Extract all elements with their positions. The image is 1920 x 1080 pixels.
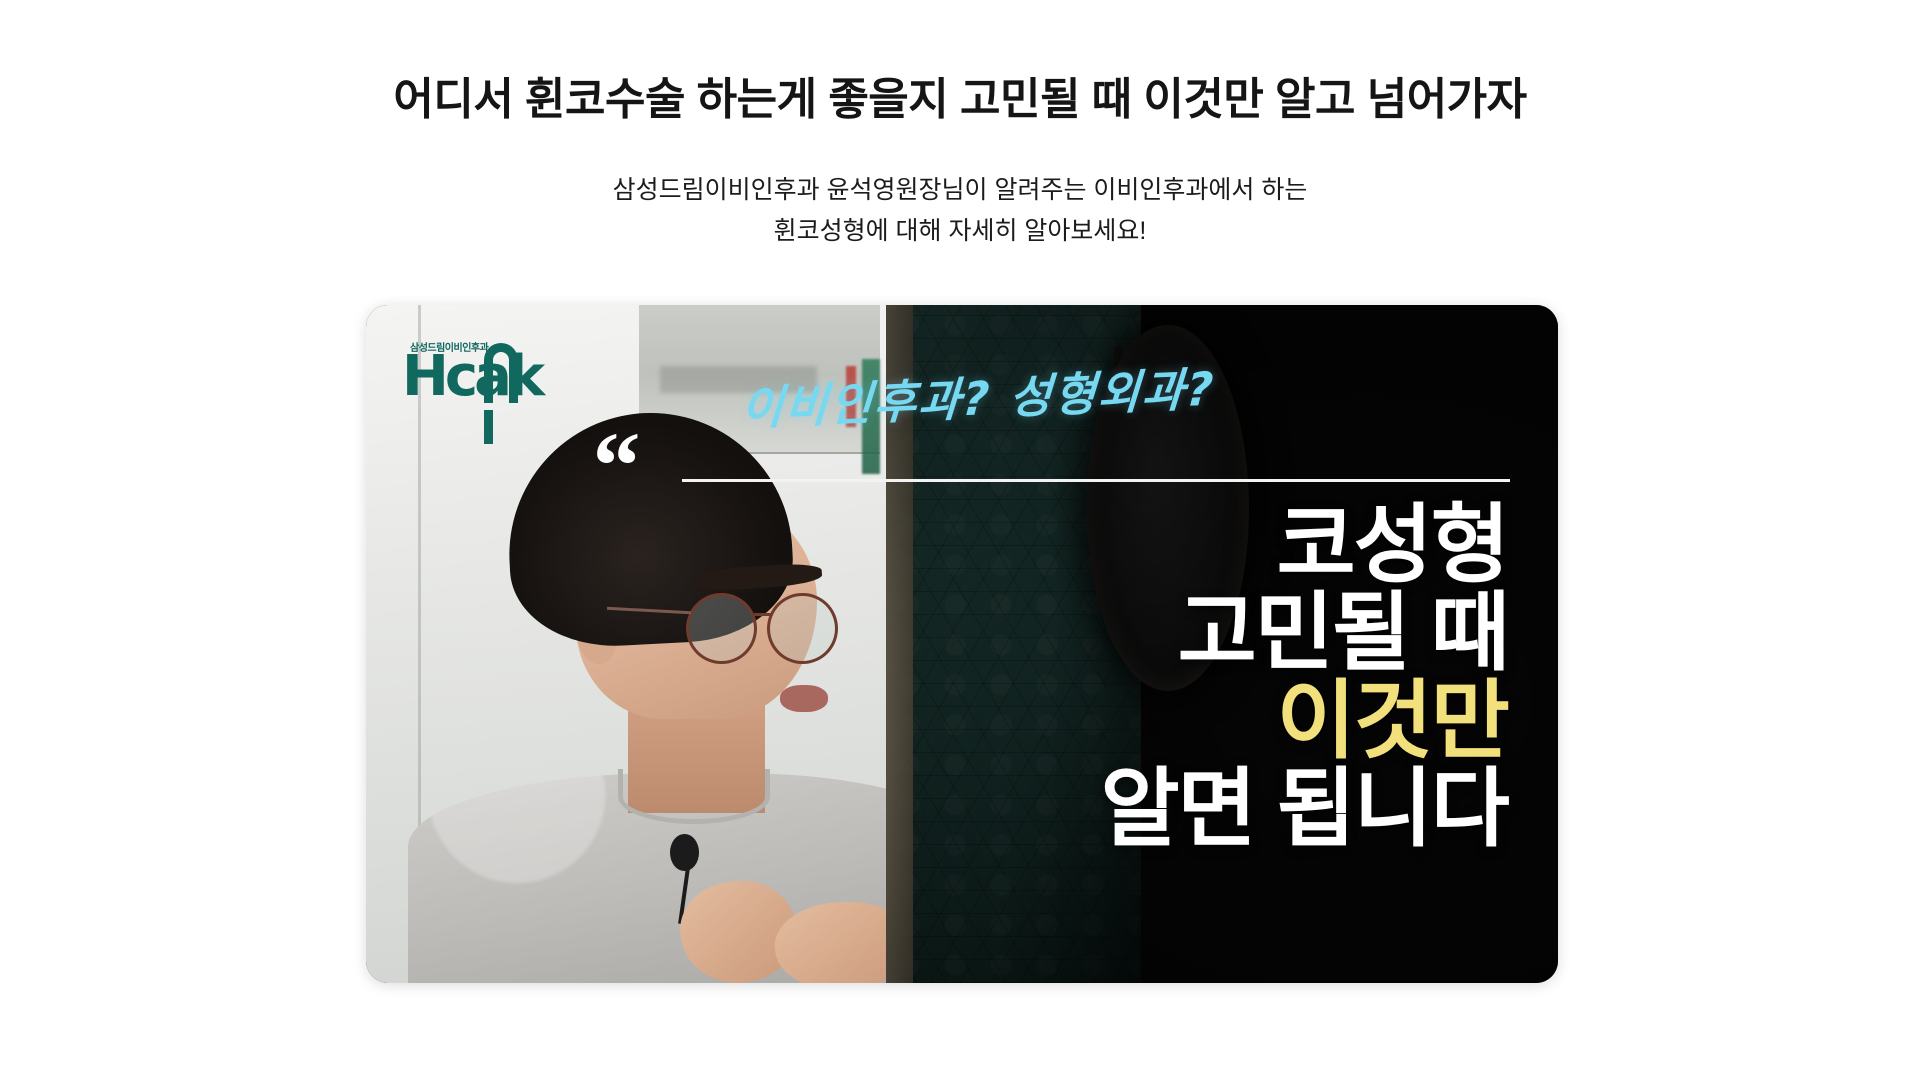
page-subtitle-line-1: 삼성드림이비인후과 윤석영원장님이 알려주는 이비인후과에서 하는 (0, 170, 1920, 211)
quote-mark-icon: “ (592, 437, 640, 495)
page-subtitle-line-2: 휜코성형에 대해 자세히 알아보세요! (0, 211, 1920, 252)
horizontal-divider (682, 479, 1510, 482)
page-subtitle: 삼성드림이비인후과 윤석영원장님이 알려주는 이비인후과에서 하는 휜코성형에 … (0, 170, 1920, 251)
video-thumbnail[interactable]: 삼성드림이비인후과 Hcak 이비인후과? 성형외과? “ 코성형 (366, 305, 1558, 983)
page-title: 어디서 휜코수술 하는게 좋을지 고민될 때 이것만 알고 넘어가자 (0, 72, 1920, 128)
video-thumbnail-wrapper[interactable]: 삼성드림이비인후과 Hcak 이비인후과? 성형외과? “ 코성형 (366, 305, 1558, 983)
thumbnail-headline-line-4: 알면 됩니다 (1100, 769, 1508, 851)
thumbnail-headline-line-3-highlight: 이것만 (1277, 681, 1508, 763)
landing-page: 어디서 휜코수술 하는게 좋을지 고민될 때 이것만 알고 넘어가자 삼성드림이… (0, 0, 1920, 1080)
thumbnail-headline-line-1: 코성형 (1277, 505, 1508, 587)
handwritten-question-text: 이비인후과? 성형외과? (740, 339, 1530, 438)
heading-block: 어디서 휜코수술 하는게 좋을지 고민될 때 이것만 알고 넘어가자 삼성드림이… (0, 0, 1920, 251)
thumbnail-text-overlay: 이비인후과? 성형외과? “ 코성형 고민될 때 이것만 알면 됩니다 (366, 305, 1558, 983)
thumbnail-headline-line-2: 고민될 때 (1178, 593, 1508, 675)
